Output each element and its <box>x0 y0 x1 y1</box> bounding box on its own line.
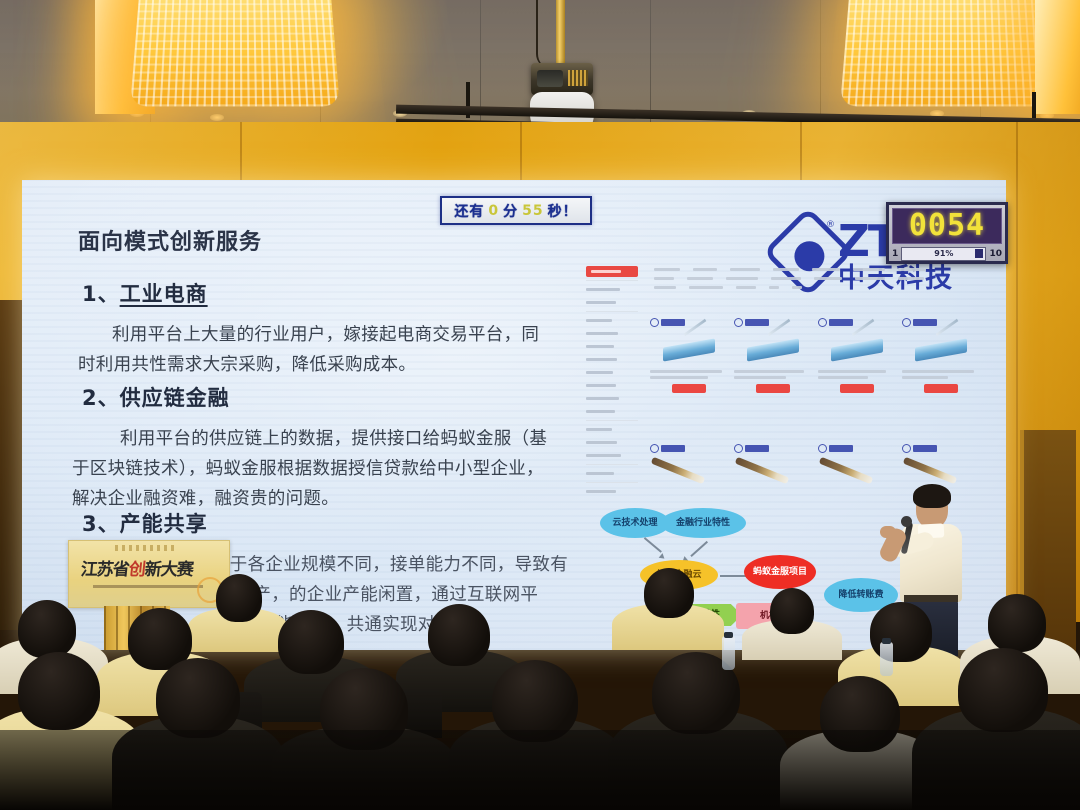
presenter-hair <box>913 484 951 508</box>
section-3: 3、产能共享 <box>82 508 208 538</box>
sidebar-item[interactable] <box>586 486 638 497</box>
product-image <box>902 330 980 370</box>
product-card[interactable] <box>734 444 812 474</box>
sidebar-item[interactable] <box>586 450 638 461</box>
sidebar-item[interactable] <box>586 328 638 339</box>
card-logo-icon <box>902 444 980 453</box>
card-logo-icon <box>902 318 980 327</box>
countdown-progress-row: 1 91% 10 <box>892 246 1002 261</box>
product-card[interactable] <box>818 318 896 393</box>
sidebar-item[interactable] <box>586 297 638 308</box>
countdown-banner: 还有 0 分 55 秒！ <box>440 196 592 225</box>
product-card[interactable] <box>902 444 980 474</box>
section-1-number: 1、 <box>82 282 120 306</box>
projector-cable <box>536 0 558 68</box>
product-cta-button[interactable] <box>924 384 958 393</box>
spec-row <box>654 286 984 289</box>
banner-prefix: 还有 <box>454 201 484 221</box>
card-logo-icon <box>818 318 896 327</box>
water-bottle <box>880 642 893 676</box>
progress-percent-label: 91% <box>902 248 985 260</box>
sidebar-item[interactable] <box>586 393 638 404</box>
section-1-heading: 工业电商 <box>120 282 208 306</box>
banner-seconds: 55 <box>522 203 543 219</box>
banner-second-unit: 秒！ <box>548 201 578 221</box>
projector-lens <box>537 70 563 87</box>
sidebar-item[interactable] <box>586 367 638 378</box>
progress-max-label: 10 <box>989 249 1002 259</box>
sidebar-item[interactable] <box>586 406 638 417</box>
product-card[interactable] <box>734 318 812 393</box>
sidebar-item[interactable] <box>586 354 638 365</box>
banner-minutes: 0 <box>488 203 499 219</box>
countdown-device: 0054 1 91% 10 <box>886 202 1008 264</box>
sidebar-item[interactable] <box>586 424 638 435</box>
section-2: 2、供应链金融 <box>82 382 230 412</box>
chandelier-right-edge <box>1035 0 1080 114</box>
product-cta-button[interactable] <box>840 384 874 393</box>
cable-product-image <box>735 457 790 484</box>
sidebar-item[interactable] <box>586 315 638 326</box>
sidebar-item[interactable] <box>586 468 638 479</box>
sidebar-item-active[interactable] <box>586 266 638 277</box>
product-image <box>818 330 896 370</box>
chandelier-right <box>840 0 1055 106</box>
progress-track[interactable]: 91% <box>901 247 986 261</box>
projector-vents <box>568 70 588 86</box>
card-logo-icon <box>734 444 812 453</box>
product-card[interactable] <box>818 444 896 474</box>
sidebar-item[interactable] <box>586 437 638 448</box>
product-description <box>650 370 728 379</box>
spec-table <box>654 268 984 295</box>
section-2-body: 利用平台的供应链上的数据，提供接口给蚂蚁金服（基 于区块链技术），蚂蚁金服根据数… <box>72 424 592 514</box>
slide-title: 面向模式创新服务 <box>78 224 262 256</box>
sidebar-item[interactable] <box>586 284 638 295</box>
product-description <box>734 370 812 379</box>
card-logo-icon <box>734 318 812 327</box>
foreground-shadow <box>0 730 1080 810</box>
spec-row <box>654 268 984 271</box>
countdown-digits: 0054 <box>909 210 985 242</box>
sidebar-item[interactable] <box>586 380 638 391</box>
section-3-number: 3、 <box>82 512 120 536</box>
sidebar-item[interactable] <box>586 341 638 352</box>
chandelier-left <box>130 0 340 106</box>
product-image <box>650 330 728 370</box>
water-bottle <box>722 636 735 670</box>
microphone-head-icon <box>901 516 912 527</box>
section-2-number: 2、 <box>82 386 120 410</box>
registered-mark: ® <box>826 220 835 230</box>
spec-row <box>654 277 984 280</box>
product-description <box>818 370 896 379</box>
card-logo-icon <box>650 318 728 327</box>
presenter-hand <box>880 526 896 538</box>
flow-node-finance-traits: 金融行业特性 <box>660 508 746 538</box>
product-card[interactable] <box>902 318 980 393</box>
product-image <box>734 330 812 370</box>
section-1: 1、工业电商 <box>82 278 208 308</box>
product-card-row-1 <box>650 318 986 393</box>
product-card[interactable] <box>650 318 728 393</box>
section-3-heading: 产能共享 <box>120 512 208 536</box>
conference-photo: 还有 0 分 55 秒！ 面向模式创新服务 1、工业电商 利用平台上大量的行业用… <box>0 0 1080 810</box>
product-cta-button[interactable] <box>756 384 790 393</box>
section-1-body: 利用平台上大量的行业用户，嫁接起电商交易平台，同 时利用共性需求大宗采购，降低采… <box>78 320 578 380</box>
banner-minute-unit: 分 <box>503 201 518 221</box>
progress-knob[interactable] <box>975 249 983 258</box>
countdown-display: 0054 <box>892 208 1002 244</box>
card-logo-icon <box>650 444 728 453</box>
progress-min-label: 1 <box>892 249 898 259</box>
cable-product-image <box>903 457 958 484</box>
section-2-heading: 供应链金融 <box>120 386 230 410</box>
catalog-sidebar <box>586 266 638 526</box>
projector-mount-pipe <box>556 0 565 72</box>
card-logo-icon <box>818 444 896 453</box>
product-card-row-2 <box>650 444 986 474</box>
cable-product-image <box>819 457 874 484</box>
product-description <box>902 370 980 379</box>
product-card[interactable] <box>650 444 728 474</box>
product-cta-button[interactable] <box>672 384 706 393</box>
cable-product-image <box>651 457 706 484</box>
